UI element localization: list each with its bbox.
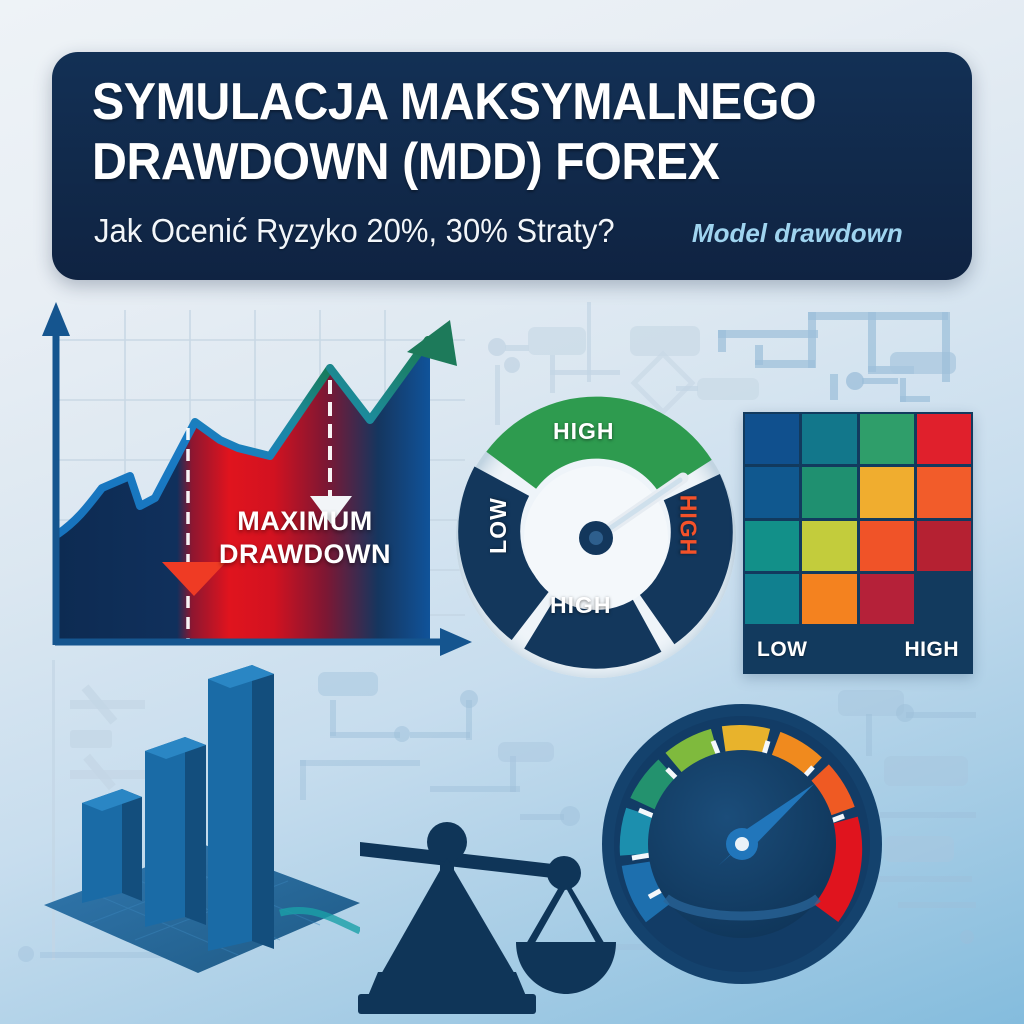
bar-2 bbox=[145, 737, 206, 927]
heatmap-cell-r4-c3 bbox=[860, 574, 914, 624]
scale-pivot bbox=[427, 822, 467, 862]
heatmap-cell-r1-c4 bbox=[917, 414, 971, 464]
heatmap-cell-r4-c4 bbox=[917, 574, 971, 624]
donut-label-right: HIGH bbox=[674, 495, 701, 557]
scale-foot bbox=[358, 994, 536, 1014]
page-title: SYMULACJA MAKSYMALNEGO DRAWDOWN (MDD) FO… bbox=[92, 72, 883, 192]
drawdown-chart-svg bbox=[30, 300, 480, 675]
scale-pan-left bbox=[380, 858, 516, 976]
heatmap-cell-r1-c3 bbox=[860, 414, 914, 464]
donut-segment-bottom-high bbox=[540, 622, 646, 637]
scale-pan-right-strings bbox=[526, 882, 606, 950]
heatmap-cell-r1-c2 bbox=[802, 414, 856, 464]
balance-scale-svg bbox=[320, 800, 630, 1024]
drawdown-area-chart: MAXIMUM DRAWDOWN bbox=[30, 300, 480, 675]
risk-level-donut-gauge: HIGH HIGH HIGH LOW bbox=[452, 392, 740, 680]
three-bar-3d-chart bbox=[30, 655, 360, 995]
heatmap-cell-r2-c1 bbox=[745, 467, 799, 517]
infographic-canvas: SYMULACJA MAKSYMALNEGO DRAWDOWN (MDD) FO… bbox=[0, 0, 1024, 1024]
heatmap-cell-r3-c4 bbox=[917, 521, 971, 571]
subtitle-row: Jak Ocenić Ryzyko 20%, 30% Straty? Model… bbox=[94, 212, 954, 250]
heatmap-legend: LOW HIGH bbox=[743, 626, 973, 674]
heatmap-cell-r3-c1 bbox=[745, 521, 799, 571]
speedometer-svg bbox=[596, 698, 888, 990]
heatmap-cell-r1-c1 bbox=[745, 414, 799, 464]
heatmap-cell-r2-c3 bbox=[860, 467, 914, 517]
bar-3 bbox=[208, 665, 274, 951]
equity-area-fill bbox=[58, 342, 430, 640]
donut-label-bottom: HIGH bbox=[550, 592, 612, 619]
drawdown-label: MAXIMUM DRAWDOWN bbox=[180, 505, 430, 571]
donut-label-left: LOW bbox=[485, 497, 512, 554]
model-badge: Model drawdown bbox=[692, 218, 903, 249]
heatmap-cell-r3-c3 bbox=[860, 521, 914, 571]
heatmap-low-label: LOW bbox=[757, 638, 807, 662]
bar-chart-svg bbox=[30, 655, 360, 995]
donut-label-top: HIGH bbox=[553, 418, 615, 445]
bar-1 bbox=[82, 789, 142, 903]
heatmap-cell-r2-c2 bbox=[802, 467, 856, 517]
heatmap-grid bbox=[745, 414, 971, 624]
balance-scale-icon bbox=[320, 800, 630, 1024]
heatmap-cell-r2-c4 bbox=[917, 467, 971, 517]
heatmap-cell-r4-c1 bbox=[745, 574, 799, 624]
risk-heatmap: LOW HIGH bbox=[743, 412, 973, 674]
page-subtitle: Jak Ocenić Ryzyko 20%, 30% Straty? bbox=[94, 212, 615, 250]
heatmap-cell-r4-c2 bbox=[802, 574, 856, 624]
heatmap-high-label: HIGH bbox=[905, 638, 960, 662]
risk-speedometer-gauge bbox=[596, 698, 888, 990]
heatmap-cell-r3-c2 bbox=[802, 521, 856, 571]
header-banner: SYMULACJA MAKSYMALNEGO DRAWDOWN (MDD) FO… bbox=[52, 52, 972, 280]
